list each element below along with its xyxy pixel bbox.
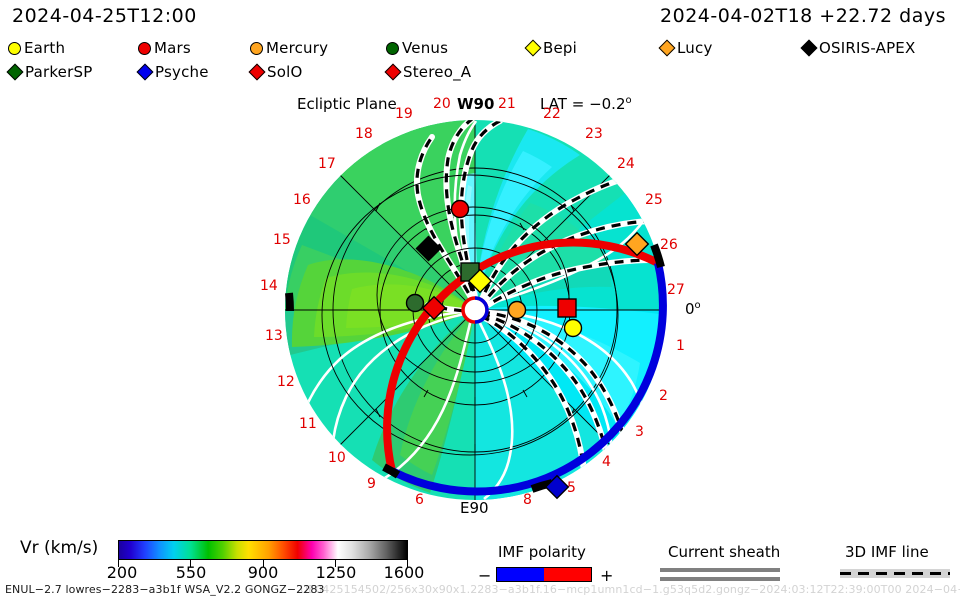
degree-sup: o [695,300,701,311]
w90-label: W90 [457,95,494,113]
tick-label-20: 20 [433,97,451,111]
legend-row-2: ParkerSP Psyche SolO Stereo_A [8,60,956,84]
legend-label: Stereo_A [403,63,471,81]
colorbar-tick-label-1250: 1250 [316,563,357,582]
current-sheath-title: Current sheath [668,543,780,561]
legend-item-stereo-a[interactable]: Stereo_A [386,63,471,81]
legend-item-solo[interactable]: SolO [250,63,386,81]
legend-label: SolO [267,63,302,81]
zero-degree-label: 0o [685,300,701,318]
legend-label: ParkerSP [25,63,92,81]
velocity-colorbar[interactable] [118,540,408,560]
legend-label: Mars [154,39,191,57]
footer-watermark: UE0425154502/256x30x90x1.2283−a3b1f.16−m… [300,583,960,596]
legend-label: Mercury [266,39,328,57]
footer-model-info: ENUL−2.7 lowres−2283−a3b1f WSA_V2.2 GONG… [5,583,325,596]
body-markers-layer [280,115,670,505]
earth-marker-icon [8,42,21,55]
marker-stereo-a[interactable] [558,299,576,317]
legend-label: Venus [402,39,448,57]
ecliptic-plane-plot: Ecliptic Plane LAT = −0.2o W90 E90 0o 20… [255,95,715,515]
current-sheath-line [660,577,780,581]
marker-osiris-apex[interactable] [416,236,440,260]
osiris-apex-marker-icon [801,40,818,57]
degree-sup: o [626,95,632,106]
marker-lucy[interactable] [626,233,649,256]
legend-item-mercury[interactable]: Mercury [250,39,386,57]
legend-item-parkersp[interactable]: ParkerSP [8,63,138,81]
marker-psyche[interactable] [546,476,569,499]
legend-item-osiris-apex[interactable]: OSIRIS-APEX [802,39,915,57]
marker-earth[interactable] [565,320,582,337]
mercury-marker-icon [250,42,263,55]
lucy-marker-icon [659,40,676,57]
mars-marker-icon [138,42,151,55]
legend-label: Psyche [155,63,209,81]
legend-item-bepi[interactable]: Bepi [526,39,660,57]
colorbar-tick-label-200: 200 [107,563,138,582]
left-timestamp: 2024-04-25T12:00 [12,5,197,27]
colorbar-tick-label-1600: 1600 [384,563,425,582]
legend-label: Bepi [543,39,577,57]
body-legend: Earth Mars Mercury Venus Bepi Lucy OSIRI… [8,36,956,84]
psyche-marker-icon [137,64,154,81]
legend-item-mars[interactable]: Mars [138,39,250,57]
plot-title-left: Ecliptic Plane [297,95,397,113]
tick-label-21: 21 [498,97,516,111]
solo-marker-icon [249,64,266,81]
parkersp-marker-icon [7,64,24,81]
imf-line-title: 3D IMF line [845,543,929,561]
bepi-marker-icon [525,40,542,57]
tick-label-14: 14 [260,279,278,293]
legend-item-lucy[interactable]: Lucy [660,39,802,57]
colorbar-tick-label-900: 900 [248,563,279,582]
colorbar-label: Vr (km/s) [20,538,98,558]
zero-text: 0 [685,300,695,318]
legend-label: Lucy [677,39,713,57]
legend-item-psyche[interactable]: Psyche [138,63,250,81]
marker-mars[interactable] [452,201,469,218]
colorbar-tick-label-550: 550 [176,563,207,582]
current-sheath-line [660,568,780,572]
marker-solo[interactable] [423,297,446,320]
tick-label-1: 1 [676,339,685,353]
legend-label: Earth [24,39,65,57]
legend-item-venus[interactable]: Venus [386,39,526,57]
stereo-a-marker-icon [385,64,402,81]
legend-item-earth[interactable]: Earth [8,39,138,57]
marker-venus[interactable] [407,295,424,312]
polar-disc-container [280,115,670,505]
right-timestamp: 2024-04-02T18 +22.72 days [660,5,946,27]
imf-line-sample [840,569,950,578]
venus-marker-icon [386,42,399,55]
legend-row-1: Earth Mars Mercury Venus Bepi Lucy OSIRI… [8,36,956,60]
imf-polarity-title: IMF polarity [498,543,586,561]
legend-label: OSIRIS-APEX [819,39,915,57]
imf-polarity-bar [496,567,592,582]
marker-mercury[interactable] [509,302,526,319]
